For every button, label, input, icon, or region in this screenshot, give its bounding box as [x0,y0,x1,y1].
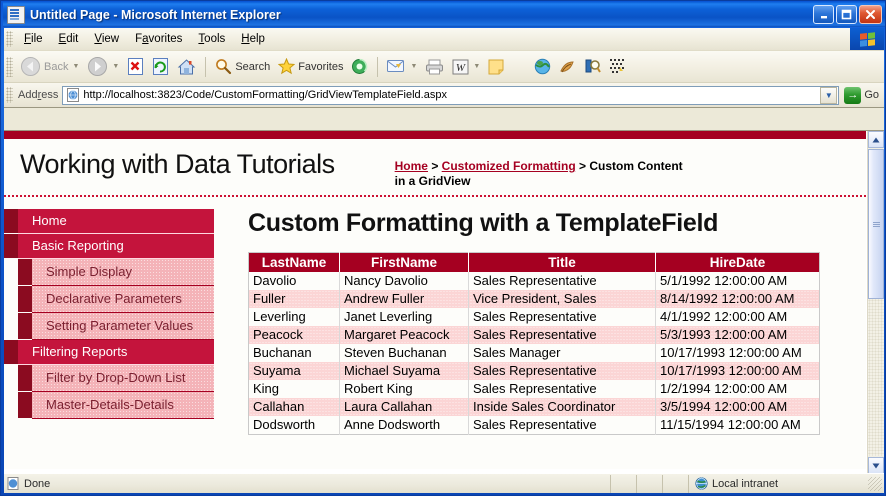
edit-chevron-down-icon[interactable]: ▼ [473,63,480,70]
cell-hiredate: 11/15/1994 12:00:00 AM [656,416,820,435]
address-grip-handle[interactable] [6,87,13,103]
cell-hiredate: 1/2/1994 12:00:00 AM [656,380,820,398]
search-label: Search [235,61,270,73]
table-header-row: LastName FirstName Title HireDate [249,253,820,273]
barcode-button[interactable] [605,55,630,79]
column-header-title[interactable]: Title [469,253,656,273]
column-header-firstname[interactable]: FirstName [340,253,469,273]
sidebar-item-master-details-details[interactable]: Master-Details-Details [32,392,214,419]
scrollbar-thumb[interactable] [868,149,884,299]
main-content: Custom Formatting with a TemplateField L… [214,197,866,435]
cell-lastname: Peacock [249,326,340,344]
back-button[interactable]: Back ▼ [16,55,83,79]
browser-client: File Edit View Favorites Tools Help Back… [4,28,884,493]
cell-title: Vice President, Sales [469,290,656,308]
cell-title: Sales Representative [469,308,656,326]
cell-lastname: Leverling [249,308,340,326]
scroll-up-arrow-icon[interactable] [868,131,884,148]
table-row: Peacock Margaret Peacock Sales Represent… [249,326,820,344]
go-arrow-icon: → [844,87,861,104]
refresh-button[interactable] [148,55,173,79]
cell-firstname: Laura Callahan [340,398,469,416]
breadcrumb-link-home[interactable]: Home [395,159,428,173]
cell-hiredate: 10/17/1993 12:00:00 AM [656,362,820,380]
mail-button[interactable]: ▼ [383,55,421,79]
table-body: Davolio Nancy Davolio Sales Representati… [249,272,820,435]
cell-title: Sales Representative [469,272,656,290]
page-body: Home Basic Reporting Simple Display Decl… [4,197,866,469]
cell-hiredate: 5/1/1992 12:00:00 AM [656,272,820,290]
cell-lastname: Buchanan [249,344,340,362]
status-text: Done [24,478,610,490]
cell-hiredate: 8/14/1992 12:00:00 AM [656,290,820,308]
window-controls [813,5,882,24]
table-row: Buchanan Steven Buchanan Sales Manager 1… [249,344,820,362]
messenger-button[interactable] [530,55,555,79]
page-header: Working with Data Tutorials Home > Custo… [4,139,866,197]
window-title: Untitled Page - Microsoft Internet Explo… [30,8,281,22]
forward-chevron-down-icon[interactable]: ▼ [112,63,119,70]
cell-lastname: King [249,380,340,398]
table-row: Suyama Michael Suyama Sales Representati… [249,362,820,380]
cell-firstname: Andrew Fuller [340,290,469,308]
cell-hiredate: 3/5/1994 12:00:00 AM [656,398,820,416]
cell-firstname: Nancy Davolio [340,272,469,290]
cell-lastname: Suyama [249,362,340,380]
menu-edit[interactable]: Edit [51,31,87,47]
web-page: Working with Data Tutorials Home > Custo… [4,131,866,473]
toolbar-separator [205,57,206,77]
column-header-lastname[interactable]: LastName [249,253,340,273]
stop-button[interactable] [123,55,148,79]
site-title: Working with Data Tutorials [20,149,335,180]
employees-gridview: LastName FirstName Title HireDate Davoli… [248,252,820,435]
table-row: Fuller Andrew Fuller Vice President, Sal… [249,290,820,308]
print-button[interactable] [421,55,448,79]
toolbar-separator-3 [513,57,525,77]
table-row: Leverling Janet Leverling Sales Represen… [249,308,820,326]
favorites-label: Favorites [298,61,343,73]
status-cell-2 [636,475,662,493]
cell-firstname: Steven Buchanan [340,344,469,362]
sidebar-item-basic-reporting[interactable]: Basic Reporting [18,234,214,259]
page-scrollbar-vertical[interactable] [867,131,884,473]
table-row: Callahan Laura Callahan Inside Sales Coo… [249,398,820,416]
cell-firstname: Margaret Peacock [340,326,469,344]
go-label: Go [864,89,879,101]
menu-favorites[interactable]: Favorites [127,31,190,47]
cell-title: Inside Sales Coordinator [469,398,656,416]
table-row: Dodsworth Anne Dodsworth Sales Represent… [249,416,820,435]
cell-hiredate: 4/1/1992 12:00:00 AM [656,308,820,326]
cell-firstname: Michael Suyama [340,362,469,380]
menu-file[interactable]: File [16,31,51,47]
maximize-button[interactable] [836,5,857,24]
research-button[interactable] [555,55,580,79]
address-input[interactable]: http://localhost:3823/Code/CustomFormatt… [62,86,839,105]
search-button[interactable]: Search [211,55,274,79]
sidebar-item-filter-by-drop-down-list[interactable]: Filter by Drop-Down List [32,365,214,392]
cell-firstname: Anne Dodsworth [340,416,469,435]
cell-title: Sales Representative [469,416,656,435]
security-zone-text: Local intranet [712,478,778,490]
notes-button[interactable] [484,55,508,79]
cell-lastname: Davolio [249,272,340,290]
cell-title: Sales Manager [469,344,656,362]
menu-tools[interactable]: Tools [190,31,233,47]
status-cell-1 [610,475,636,493]
breadcrumb-separator-1: > [428,159,442,173]
mail-chevron-down-icon[interactable]: ▼ [410,63,417,70]
page-viewport: Working with Data Tutorials Home > Custo… [4,130,884,473]
column-header-hiredate[interactable]: HireDate [656,253,820,273]
forward-button[interactable]: ▼ [83,55,123,79]
cell-title: Sales Representative [469,326,656,344]
cell-lastname: Fuller [249,290,340,308]
page-icon [7,6,25,24]
breadcrumb-separator-2: > [576,159,590,173]
favorites-button[interactable]: Favorites [274,55,347,79]
breadcrumb: Home > Customized Formatting > Custom Co… [395,159,695,189]
cell-lastname: Dodsworth [249,416,340,435]
scroll-down-arrow-icon[interactable] [868,457,884,473]
home-button[interactable] [173,55,200,79]
windows-flag-icon[interactable] [850,28,884,50]
address-label: Address [18,89,58,101]
address-chevron-down-icon[interactable]: ▼ [820,87,837,104]
sidebar-item-setting-parameter-values[interactable]: Setting Parameter Values [32,313,214,340]
cell-firstname: Janet Leverling [340,308,469,326]
cell-firstname: Robert King [340,380,469,398]
cell-title: Sales Representative [469,362,656,380]
toolbar: Back ▼ ▼ Search [4,51,884,83]
table-row: King Robert King Sales Representative 1/… [249,380,820,398]
page-icon-status [7,477,20,490]
svg-text:W: W [456,62,466,74]
address-url-text: http://localhost:3823/Code/CustomFormatt… [83,89,820,101]
menu-view[interactable]: View [86,31,127,47]
globe-icon [695,477,708,490]
cell-lastname: Callahan [249,398,340,416]
address-bar: Address http://localhost:3823/Code/Custo… [4,83,884,108]
menu-grip-handle[interactable] [6,31,13,47]
sidebar-item-home[interactable]: Home [18,209,214,234]
cell-title: Sales Representative [469,380,656,398]
sidebar-item-declarative-parameters[interactable]: Declarative Parameters [32,286,214,313]
page-title: Custom Formatting with a TemplateField [248,209,848,238]
scrollbar-track[interactable] [868,299,884,456]
page-top-accent-bar [4,131,866,139]
resize-grip[interactable] [868,477,882,491]
status-bar: Done Local intranet [4,473,884,493]
title-bar: Untitled Page - Microsoft Internet Explo… [3,2,885,27]
menu-help[interactable]: Help [233,31,273,47]
close-button[interactable] [859,5,882,24]
menu-bar: File Edit View Favorites Tools Help [4,28,884,51]
back-label: Back [44,61,68,73]
cell-hiredate: 10/17/1993 12:00:00 AM [656,344,820,362]
browser-window: Untitled Page - Microsoft Internet Explo… [0,0,886,496]
go-button[interactable]: → Go [839,84,884,106]
sidebar-item-filtering-reports[interactable]: Filtering Reports [18,340,214,365]
security-zone[interactable]: Local intranet [688,475,868,493]
back-chevron-down-icon[interactable]: ▼ [72,63,79,70]
sidebar-nav: Home Basic Reporting Simple Display Decl… [4,197,214,419]
status-cell-3 [662,475,688,493]
sidebar-item-simple-display[interactable]: Simple Display [32,259,214,286]
media-button[interactable] [347,55,372,79]
table-row: Davolio Nancy Davolio Sales Representati… [249,272,820,290]
page-icon-small [66,88,80,102]
minimize-button[interactable] [813,5,834,24]
cell-hiredate: 5/3/1993 12:00:00 AM [656,326,820,344]
breadcrumb-link-section[interactable]: Customized Formatting [442,159,576,173]
toolbar-grip-handle[interactable] [6,57,13,77]
toolbar-separator-2 [377,57,378,77]
encarta-button[interactable] [580,55,605,79]
edit-word-button[interactable]: W ▼ [448,55,484,79]
